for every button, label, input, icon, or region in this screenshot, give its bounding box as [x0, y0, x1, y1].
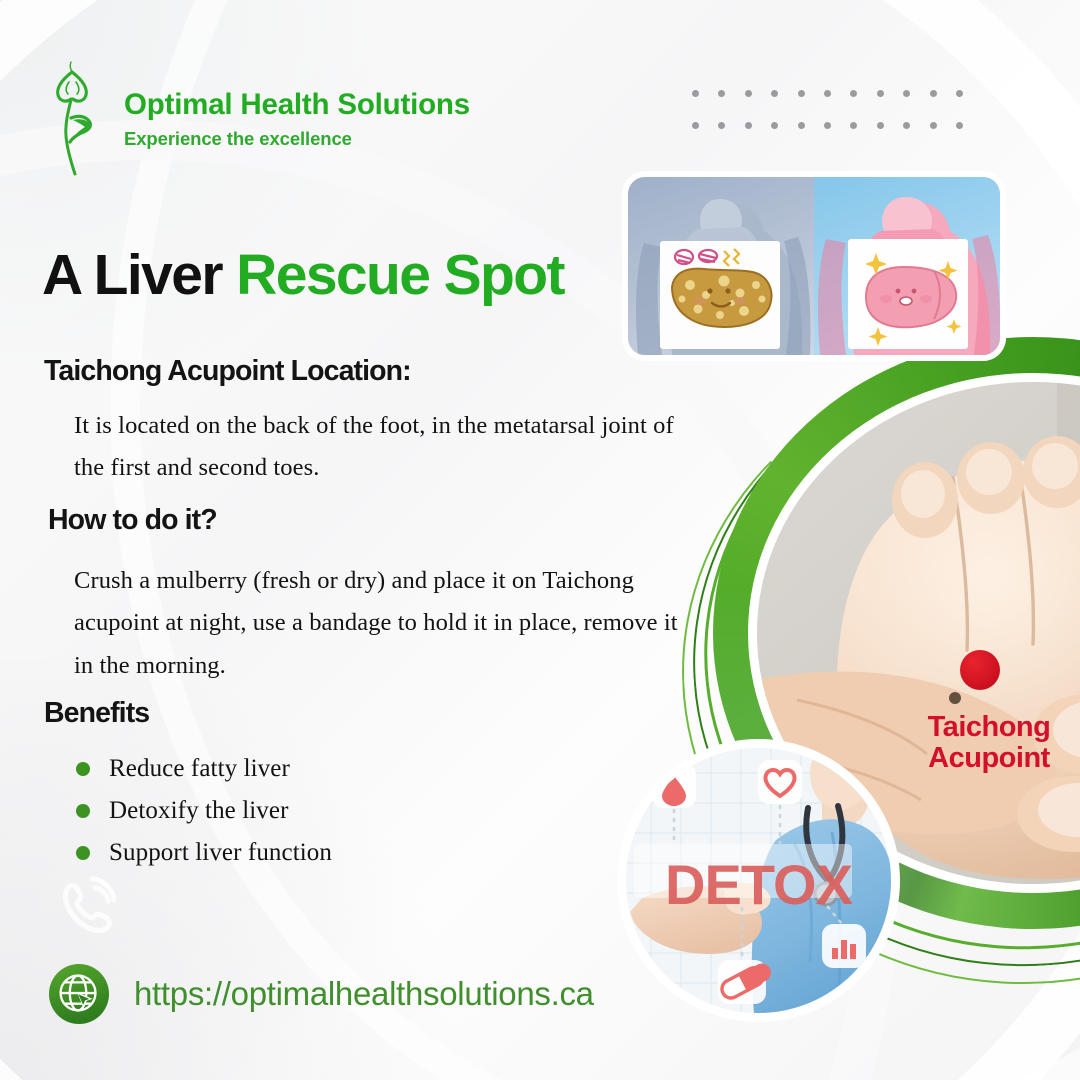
footer-website-link[interactable]: https://optimalhealthsolutions.ca	[48, 963, 594, 1025]
benefit-label: Reduce fatty liver	[109, 755, 290, 783]
section-heading-location: Taichong Acupoint Location:	[44, 356, 411, 387]
benefits-list: Reduce fatty liver Detoxify the liver Su…	[76, 748, 332, 874]
section-heading-benefits: Benefits	[44, 698, 149, 729]
decorative-dot-grid	[692, 90, 982, 154]
liver-comparison-card	[628, 177, 1000, 355]
healthy-liver-photo	[814, 177, 1000, 355]
detox-photo-circle: DETOX	[626, 748, 891, 1013]
list-item: Support liver function	[76, 832, 332, 874]
benefit-label: Support liver function	[109, 839, 332, 867]
acupoint-label-line1: Taichong	[928, 711, 1051, 743]
headline-green-text: Rescue Spot	[236, 243, 564, 307]
acupoint-label: Taichong Acupoint	[900, 712, 1078, 774]
liver-before-half	[628, 177, 814, 355]
acupoint-label-line2: Acupoint	[928, 742, 1050, 774]
lotus-figure-logo-icon	[44, 58, 106, 176]
bullet-icon	[76, 804, 90, 818]
brand-tagline: Experience the excellence	[124, 128, 470, 150]
website-url-text[interactable]: https://optimalhealthsolutions.ca	[134, 975, 594, 1013]
detox-word-label: DETOX	[626, 852, 891, 917]
bullet-icon	[76, 762, 90, 776]
list-item: Detoxify the liver	[76, 790, 332, 832]
poster-headline: A Liver Rescue Spot	[42, 247, 564, 304]
poster-canvas: Optimal Health Solutions Experience the …	[0, 0, 1080, 1080]
brand-logo-block: Optimal Health Solutions Experience the …	[44, 58, 470, 176]
benefit-label: Detoxify the liver	[109, 797, 289, 825]
unhealthy-liver-photo	[628, 177, 814, 355]
section-body-location: It is located on the back of the foot, i…	[74, 405, 699, 490]
liver-after-half	[814, 177, 1000, 355]
globe-cursor-icon	[48, 963, 110, 1025]
acupoint-marker-dot	[960, 650, 1000, 690]
section-heading-howto: How to do it?	[48, 505, 217, 536]
bullet-icon	[76, 846, 90, 860]
headline-dark-text: A Liver	[42, 243, 236, 307]
section-body-howto: Crush a mulberry (fresh or dry) and plac…	[74, 560, 689, 687]
brand-name: Optimal Health Solutions	[124, 90, 470, 121]
list-item: Reduce fatty liver	[76, 748, 332, 790]
